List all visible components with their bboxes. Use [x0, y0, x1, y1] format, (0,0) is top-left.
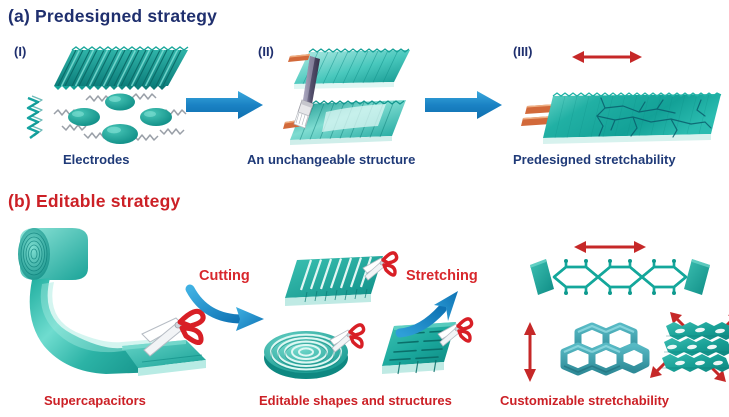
panel-a-step-3-numeral: (III): [513, 44, 533, 59]
spiral-disk: [262, 318, 372, 384]
straight-arrow-2: [425, 90, 503, 122]
figure-root: (a) Predesigned strategy (I): [0, 0, 729, 417]
panel-a-step-2-caption: An unchangeable structure: [247, 152, 415, 167]
curved-arrow-stretching: [398, 285, 484, 337]
panel-b-step-1-caption: Supercapacitors: [44, 393, 146, 408]
straight-arrow-1: [186, 90, 264, 122]
panel-a-step-3-caption: Predesigned stretchability: [513, 152, 676, 167]
stretching-label: Stretching: [406, 268, 478, 284]
stretched-honeycomb-strip: [530, 255, 716, 301]
supercapacitor-roll: [10, 222, 210, 382]
panel-a-horizontal-stretch-arrow: [572, 48, 642, 66]
panel-a-title: (a) Predesigned strategy: [8, 6, 217, 27]
cracked-stretchable-film: [505, 82, 729, 144]
panel-b-title: (b) Editable strategy: [8, 191, 180, 212]
panel-a-step-1-numeral: (I): [14, 44, 26, 59]
panel-b-step-2-caption: Editable shapes and structures: [259, 393, 452, 408]
honeycomb-3d-mesh: [548, 318, 658, 388]
slatted-strip-sheet: [283, 252, 395, 312]
brush-coating-scene: [282, 42, 414, 147]
panel-b-step-3-caption: Customizable stretchability: [500, 393, 669, 408]
panel-a-step-1-caption: Electrodes: [63, 152, 129, 167]
panel-b-horizontal-stretch-arrow: [574, 238, 646, 256]
cutting-label: Cutting: [199, 268, 250, 284]
panel-b-vertical-stretch-arrow: [521, 322, 539, 382]
kirigami-expanded-mesh: [660, 320, 729, 382]
polymer-chain-molecule: [22, 84, 197, 146]
panel-a-step-2-numeral: (II): [258, 44, 274, 59]
